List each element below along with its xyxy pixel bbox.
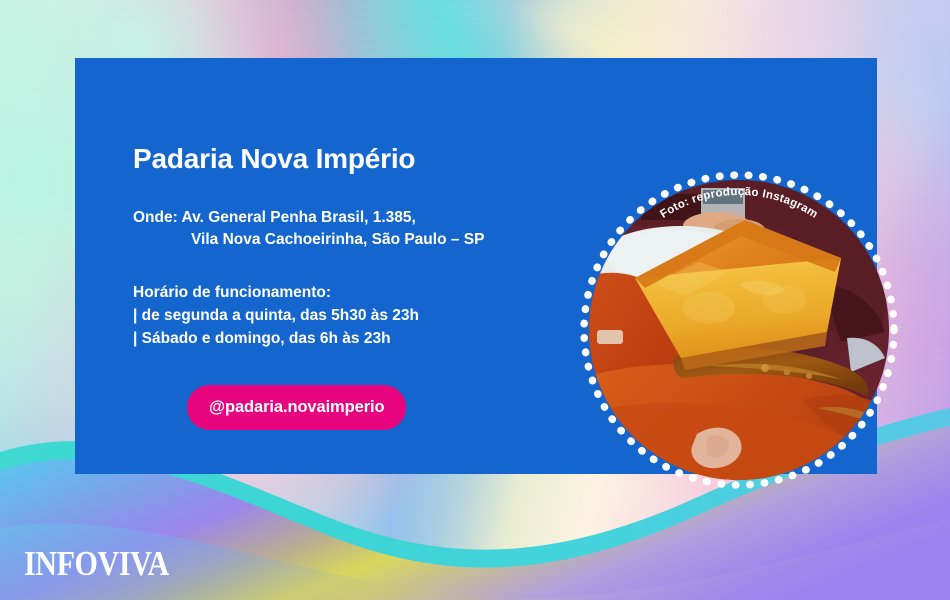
opening-hours-heading: Horário de funcionamento: [133, 282, 593, 305]
address-block: Onde: Av. General Penha Brasil, 1.385, V… [133, 207, 593, 252]
address-line-1: Onde: Av. General Penha Brasil, 1.385, [133, 207, 593, 229]
poster-canvas: Padaria Nova Império Onde: Av. General P… [0, 0, 950, 600]
opening-hours-block: Horário de funcionamento: | de segunda a… [133, 282, 593, 351]
card-text-block: Padaria Nova Império Onde: Av. General P… [133, 144, 593, 351]
opening-hours-weekday: | de segunda a quinta, das 5h30 às 23h [133, 305, 593, 328]
instagram-handle-badge[interactable]: @padaria.novaimperio [187, 385, 406, 430]
address-line-2: Vila Nova Cachoeirinha, São Paulo – SP [133, 229, 593, 251]
photo-frame: Foto: reprodução Instagram [578, 169, 900, 491]
opening-hours-weekend: | Sábado e domingo, das 6h às 23h [133, 328, 593, 351]
page-title: Padaria Nova Império [133, 144, 593, 175]
infoviva-logo: INFOVIVA [24, 546, 169, 581]
pudding-photo [589, 180, 889, 480]
